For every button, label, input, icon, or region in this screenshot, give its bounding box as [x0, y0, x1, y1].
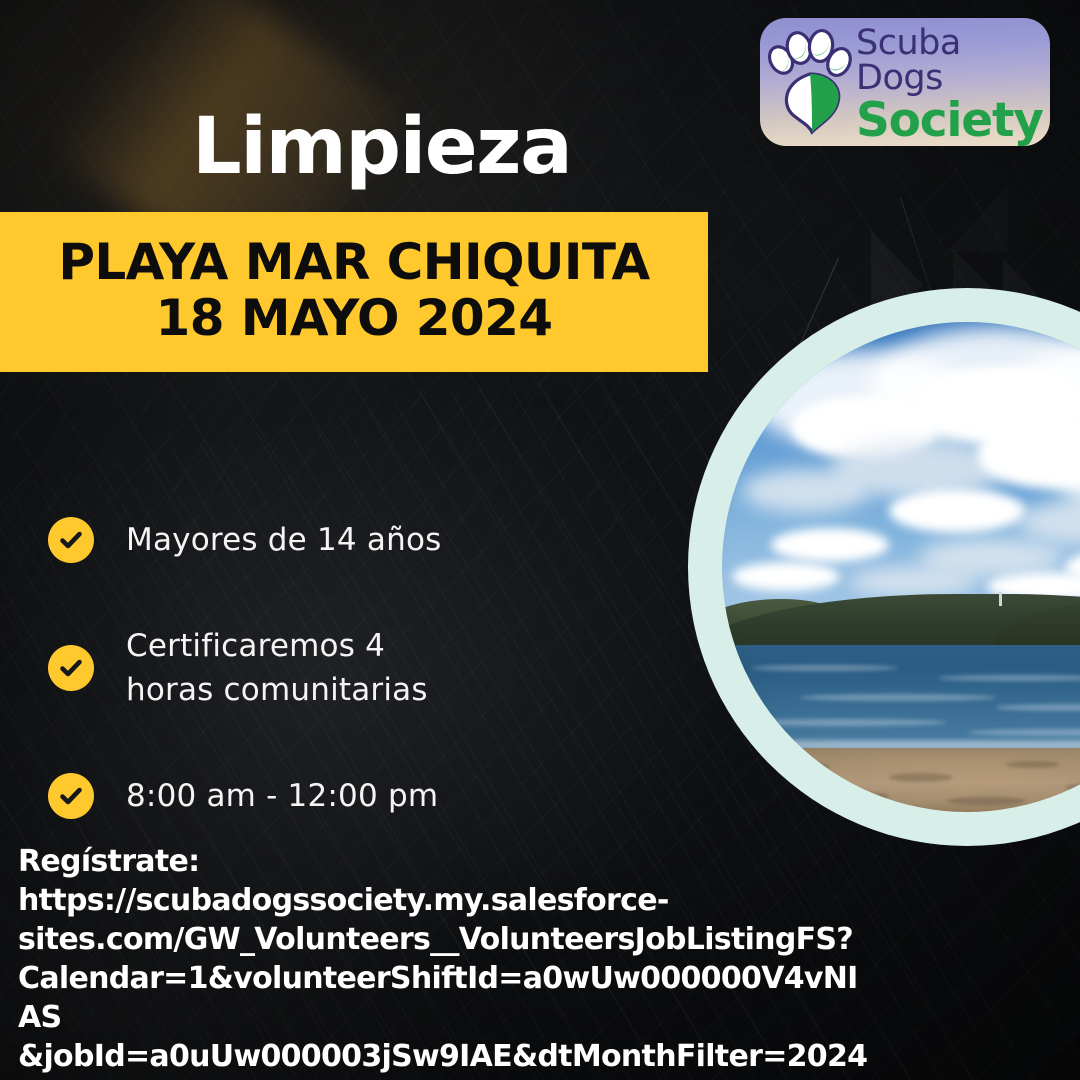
registration-label: Regístrate:: [18, 842, 878, 881]
list-item-text: 8:00 am - 12:00 pm: [126, 774, 438, 818]
event-date: 18 MAYO 2024: [156, 290, 553, 346]
check-glyph: [57, 782, 85, 810]
logo-wordmark: Scuba Dogs Society TU HUELLA EN ARMONÍA: [856, 26, 1046, 146]
logo-line-society: Society: [856, 97, 1046, 144]
logo-line-scuba-dogs: Scuba Dogs: [856, 26, 1046, 96]
event-poster: Scuba Dogs Society TU HUELLA EN ARMONÍA …: [0, 0, 1080, 1080]
poster-headline: Limpieza: [192, 108, 571, 186]
check-icon: [48, 773, 94, 819]
beach-photo: [722, 322, 1080, 812]
list-item-line: horas comunitarias: [126, 668, 428, 712]
check-glyph: [57, 526, 85, 554]
list-item: Mayores de 14 años: [48, 498, 648, 582]
beach-photo-ring: [688, 288, 1080, 846]
check-icon: [48, 645, 94, 691]
check-icon: [48, 517, 94, 563]
list-item: 8:00 am - 12:00 pm: [48, 754, 648, 838]
registration-block: Regístrate: https://scubadogssociety.my.…: [18, 842, 878, 1080]
paw-print-icon: [768, 24, 854, 136]
list-item: Certificaremos 4 horas comunitarias: [48, 624, 648, 712]
scuba-dogs-society-logo: Scuba Dogs Society TU HUELLA EN ARMONÍA: [760, 18, 1050, 146]
list-item-text: Mayores de 14 años: [126, 518, 441, 562]
list-item-line: Mayores de 14 años: [126, 518, 441, 562]
list-item-line: 8:00 am - 12:00 pm: [126, 774, 438, 818]
event-banner: PLAYA MAR CHIQUITA 18 MAYO 2024: [0, 212, 708, 372]
registration-url-line[interactable]: Calendar=1&volunteerShiftId=a0wUw000000V…: [18, 959, 878, 1037]
list-item-text: Certificaremos 4 horas comunitarias: [126, 624, 428, 712]
list-item-line: Certificaremos 4: [126, 624, 428, 668]
registration-url-line[interactable]: &jobId=a0uUw000003jSw9IAE&dtMonthFilter=…: [18, 1037, 878, 1080]
registration-url-line[interactable]: sites.com/GW_Volunteers__VolunteersJobLi…: [18, 920, 878, 959]
check-glyph: [57, 654, 85, 682]
requirements-list: Mayores de 14 años Certificaremos 4 hora…: [48, 498, 648, 838]
photo-edge-shading: [722, 322, 1080, 812]
registration-url-line[interactable]: https://scubadogssociety.my.salesforce-: [18, 881, 878, 920]
event-location: PLAYA MAR CHIQUITA: [58, 234, 649, 290]
